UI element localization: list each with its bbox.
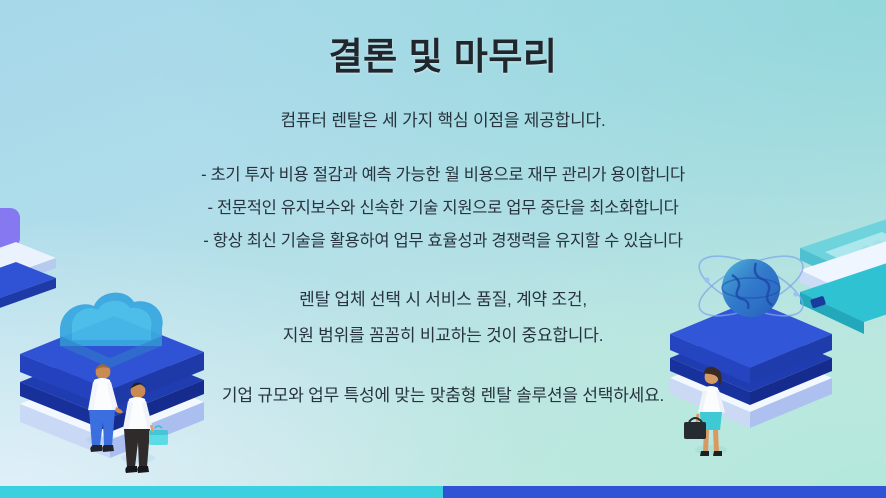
accent-bar-left-segment [0,486,443,498]
slide-content: 결론 및 마무리 컴퓨터 렌탈은 세 가지 핵심 이점을 제공합니다. - 초기… [0,0,886,498]
advice-line-2: 지원 범위를 꼼꼼히 비교하는 것이 중요합니다. [283,321,604,346]
accent-bar-right-segment [443,486,886,498]
benefit-item-1: - 초기 투자 비용 절감과 예측 가능한 월 비용으로 재무 관리가 용이합니… [201,161,685,185]
benefit-item-2: - 전문적인 유지보수와 신속한 기술 지원으로 업무 중단을 최소화합니다 [208,194,679,218]
benefits-list: - 초기 투자 비용 절감과 예측 가능한 월 비용으로 재무 관리가 용이합니… [201,161,685,251]
advice-line-1: 렌탈 업체 선택 시 서비스 품질, 계약 조건, [299,285,587,310]
benefit-item-3: - 항상 최신 기술을 활용하여 업무 효율성과 경쟁력을 유지할 수 있습니다 [203,227,683,251]
closing-statement: 기업 규모와 업무 특성에 맞는 맞춤형 렌탈 솔루션을 선택하세요. [222,381,664,406]
advice-block: 렌탈 업체 선택 시 서비스 품질, 계약 조건, 지원 범위를 꼼꼼히 비교하… [283,285,604,346]
bottom-accent-bar [0,486,886,498]
slide-subtitle: 컴퓨터 렌탈은 세 가지 핵심 이점을 제공합니다. [280,106,605,131]
page-title: 결론 및 마무리 [329,26,558,80]
presentation-slide: 결론 및 마무리 컴퓨터 렌탈은 세 가지 핵심 이점을 제공합니다. - 초기… [0,0,886,498]
